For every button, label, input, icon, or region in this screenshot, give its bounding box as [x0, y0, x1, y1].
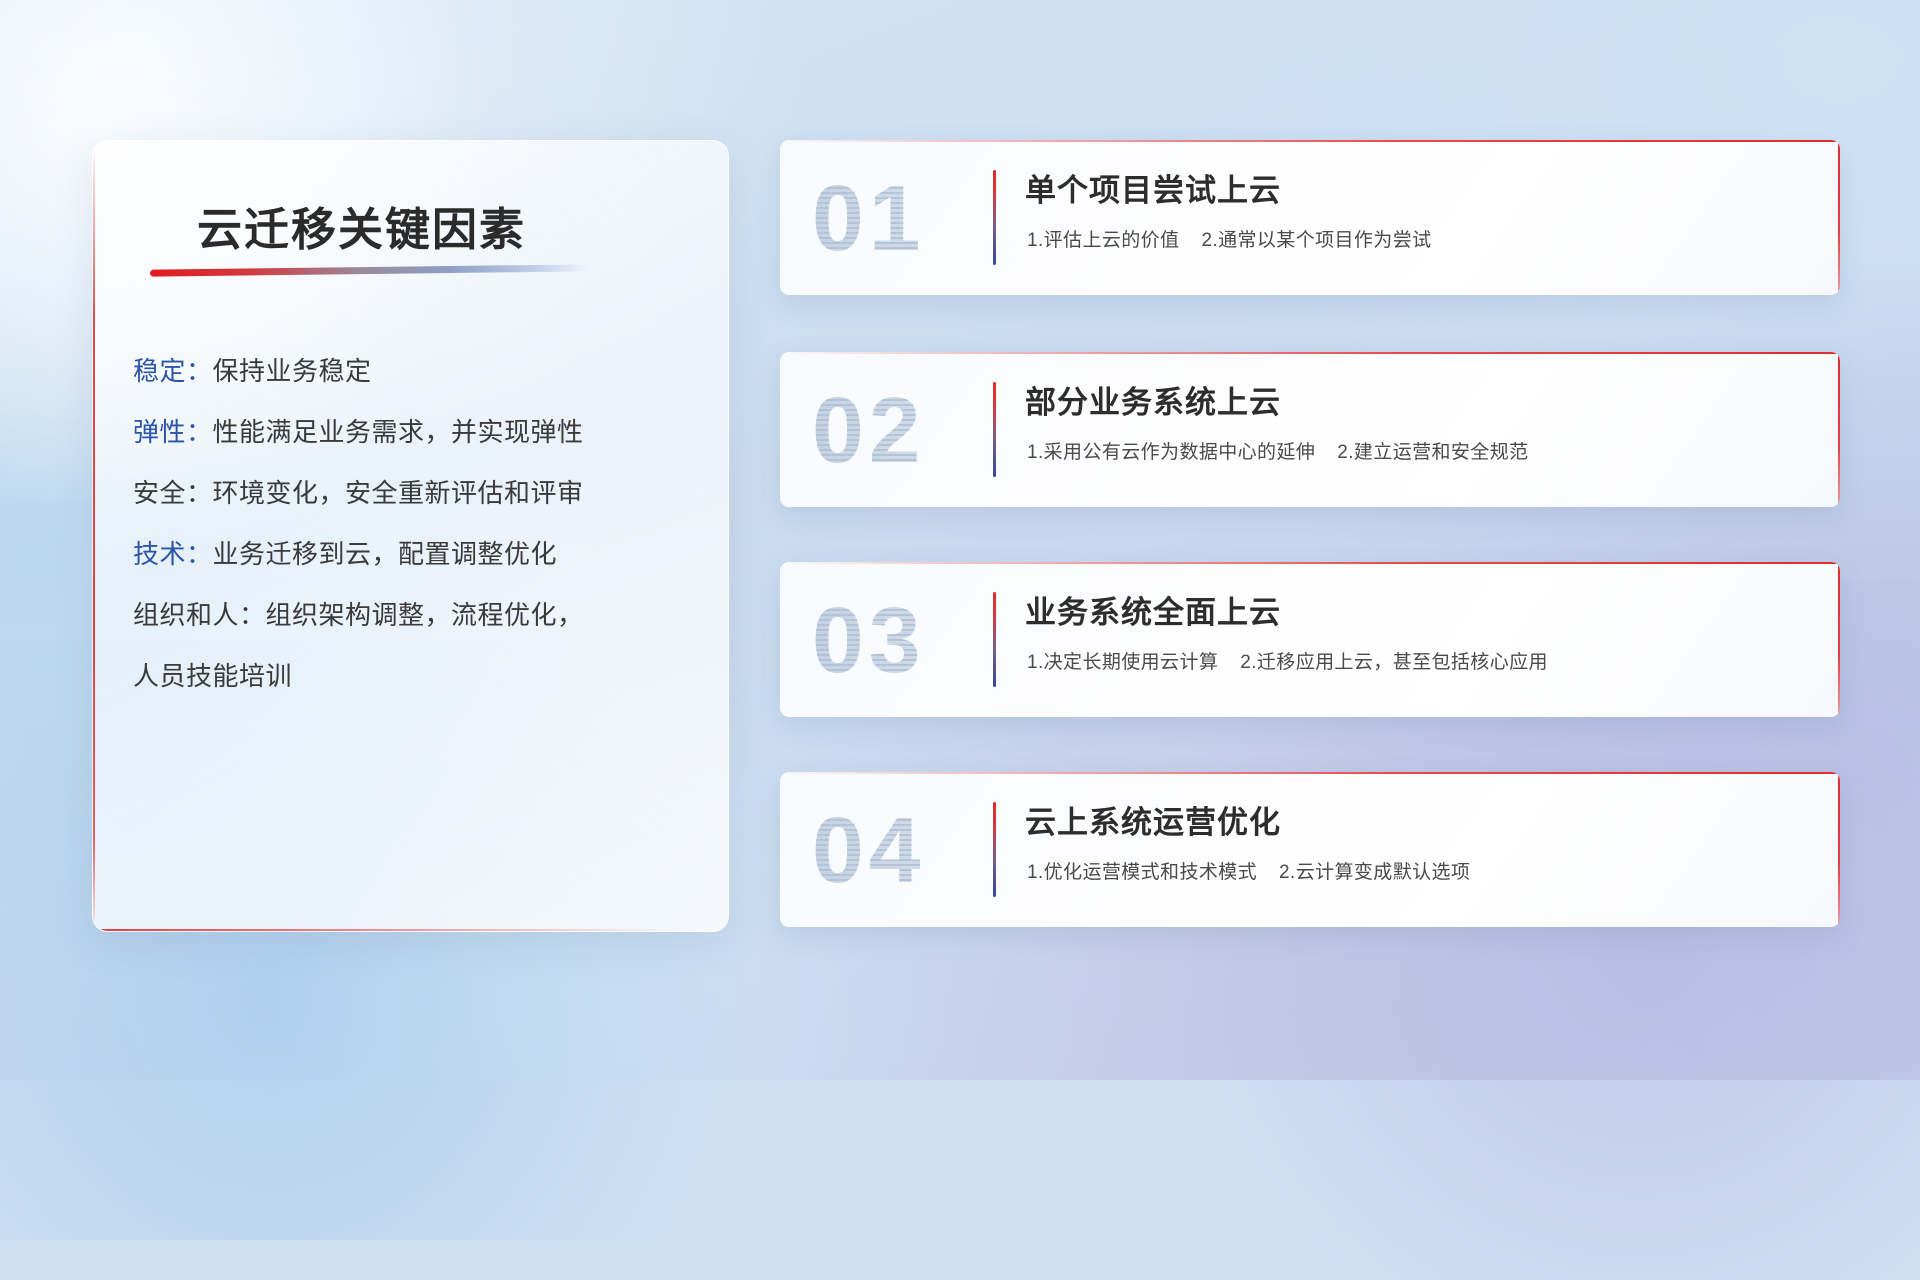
slide-stage: 云迁移关键因素 稳定：保持业务稳定 弹性：性能满足业务需求，并实现弹性 安全：环… — [0, 0, 1920, 1080]
factor-item: 稳定：保持业务稳定 — [133, 341, 704, 402]
step-point-2: 2.迁移应用上云，甚至包括核心应用 — [1240, 652, 1548, 673]
step-point-1: 1.优化运营模式和技术模式 — [1027, 862, 1257, 883]
step-number: 04 — [812, 794, 1012, 906]
factor-text: 环境变化，安全重新评估和评审 — [213, 478, 584, 508]
factor-text: 组织架构调整，流程优化， — [266, 600, 584, 630]
factor-item: 技术：业务迁移到云，配置调整优化 — [133, 524, 704, 585]
factor-label: 弹性： — [133, 417, 213, 447]
step-card-03[interactable]: 03 业务系统全面上云 1.决定长期使用云计算2.迁移应用上云，甚至包括核心应用 — [780, 562, 1840, 717]
factor-item: 弹性：性能满足业务需求，并实现弹性 — [133, 402, 704, 463]
step-number: 02 — [812, 374, 1012, 486]
step-point-2: 2.通常以某个项目作为尝试 — [1201, 230, 1431, 251]
step-point-1: 1.采用公有云作为数据中心的延伸 — [1027, 442, 1315, 463]
step-description: 1.采用公有云作为数据中心的延伸2.建立运营和安全规范 — [1027, 437, 1529, 464]
step-number: 03 — [812, 584, 1012, 696]
step-number: 01 — [812, 162, 1012, 274]
factor-item-continuation: 人员技能培训 — [133, 646, 704, 707]
factor-label: 技术： — [133, 539, 213, 569]
step-point-1: 1.决定长期使用云计算 — [1027, 652, 1218, 673]
step-card-04[interactable]: 04 云上系统运营优化 1.优化运营模式和技术模式2.云计算变成默认选项 — [780, 772, 1840, 927]
factor-text: 人员技能培训 — [133, 661, 292, 691]
factor-label: 稳定： — [133, 356, 213, 386]
factor-item: 安全：环境变化，安全重新评估和评审 — [133, 463, 704, 524]
step-accent-bar — [993, 592, 996, 687]
step-point-2: 2.云计算变成默认选项 — [1279, 862, 1470, 883]
panel-title-underline — [150, 264, 590, 276]
step-description: 1.评估上云的价值2.通常以某个项目作为尝试 — [1027, 225, 1432, 252]
step-card-01[interactable]: 01 单个项目尝试上云 1.评估上云的价值2.通常以某个项目作为尝试 — [780, 140, 1840, 295]
step-accent-bar — [993, 802, 996, 897]
step-point-2: 2.建立运营和安全规范 — [1337, 442, 1528, 463]
key-factors-panel: 云迁移关键因素 稳定：保持业务稳定 弹性：性能满足业务需求，并实现弹性 安全：环… — [92, 140, 729, 932]
step-title: 云上系统运营优化 — [1025, 797, 1281, 842]
panel-title: 云迁移关键因素 — [197, 193, 526, 258]
factor-text: 保持业务稳定 — [213, 356, 372, 386]
step-accent-bar — [993, 382, 996, 477]
factor-label: 安全： — [133, 478, 213, 508]
factor-list: 稳定：保持业务稳定 弹性：性能满足业务需求，并实现弹性 安全：环境变化，安全重新… — [133, 341, 704, 707]
step-card-02[interactable]: 02 部分业务系统上云 1.采用公有云作为数据中心的延伸2.建立运营和安全规范 — [780, 352, 1840, 507]
step-description: 1.优化运营模式和技术模式2.云计算变成默认选项 — [1027, 857, 1470, 884]
step-title: 单个项目尝试上云 — [1025, 165, 1281, 210]
factor-label: 组织和人： — [133, 600, 266, 630]
step-point-1: 1.评估上云的价值 — [1027, 230, 1179, 251]
factor-text: 业务迁移到云，配置调整优化 — [213, 539, 558, 569]
step-title: 业务系统全面上云 — [1025, 587, 1281, 632]
step-accent-bar — [993, 170, 996, 265]
factor-text: 性能满足业务需求，并实现弹性 — [213, 417, 584, 447]
step-title: 部分业务系统上云 — [1025, 377, 1281, 422]
factor-item: 组织和人：组织架构调整，流程优化， — [133, 585, 704, 646]
step-description: 1.决定长期使用云计算2.迁移应用上云，甚至包括核心应用 — [1027, 647, 1548, 674]
